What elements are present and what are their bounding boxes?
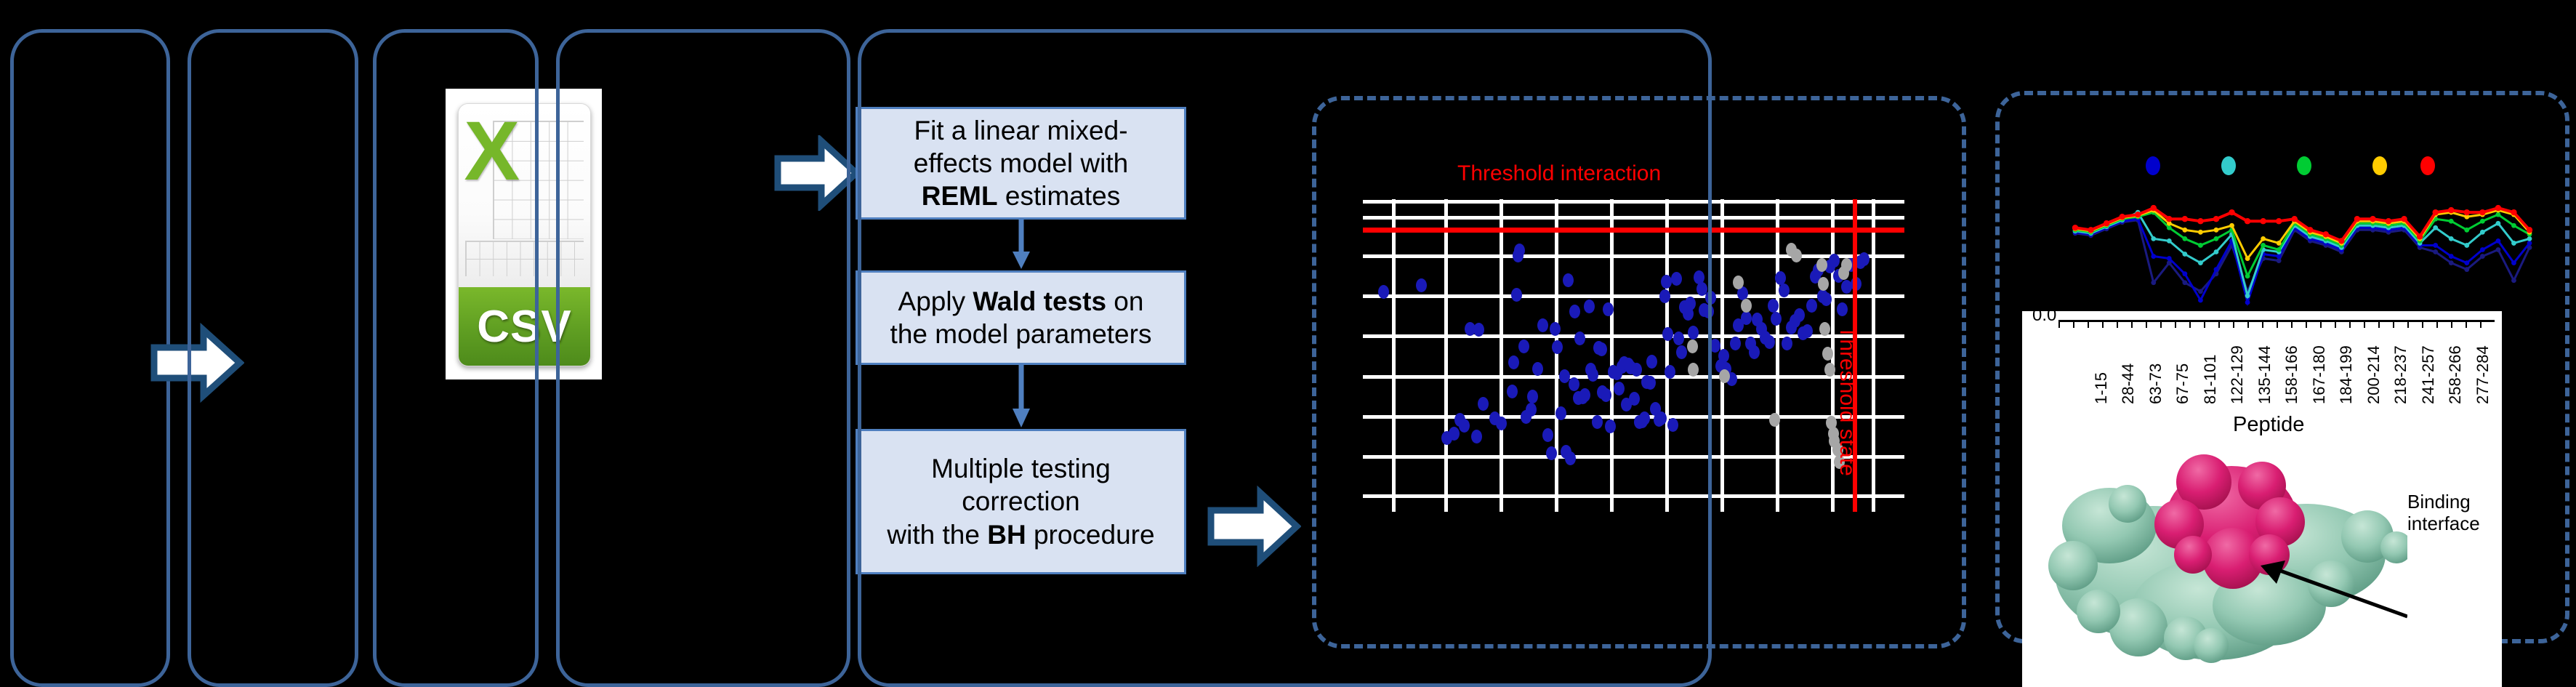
line-point	[2480, 230, 2485, 235]
scatter-point	[1768, 299, 1779, 313]
line-point	[2338, 238, 2344, 244]
x-axis-tick-label: 158-166	[2282, 345, 2301, 404]
scatter-point	[1819, 322, 1830, 336]
scatter-results-panel	[556, 29, 850, 687]
line-point	[2401, 216, 2407, 222]
line-point	[2197, 218, 2203, 224]
protein-surface-render	[2029, 438, 2407, 678]
line-point	[2449, 254, 2454, 259]
x-axis-tick-label: 200-214	[2364, 345, 2383, 404]
line-point	[2370, 216, 2375, 222]
line-point	[2151, 205, 2157, 211]
line-point	[2354, 216, 2360, 222]
scatter-point	[1749, 345, 1760, 359]
line-point	[2464, 267, 2469, 272]
line-point	[2480, 254, 2485, 259]
empty-input-panel	[10, 29, 170, 687]
x-axis-tick-label: 258-266	[2446, 345, 2465, 404]
statistics-panel	[373, 29, 539, 687]
line-point	[2214, 228, 2219, 233]
legend-dot-blue	[2146, 156, 2160, 175]
line-point	[2276, 218, 2282, 224]
line-point	[2527, 227, 2532, 233]
line-point	[2229, 209, 2234, 215]
line-point	[2229, 223, 2234, 228]
line-point	[2245, 294, 2250, 299]
line-point	[2167, 225, 2172, 230]
line-point	[2464, 243, 2469, 248]
binding-interface-line2: interface	[2407, 513, 2480, 534]
line-point	[2166, 216, 2172, 222]
x-axis-tick-label: 218-237	[2391, 345, 2410, 404]
line-point	[2432, 209, 2438, 215]
line-point	[2495, 247, 2500, 252]
scatter-point	[1822, 347, 1833, 361]
line-point	[2495, 238, 2500, 244]
line-point	[2433, 243, 2438, 248]
line-point	[2433, 225, 2438, 230]
line-point	[2198, 289, 2203, 294]
line-point	[2511, 260, 2516, 265]
scatter-point	[1859, 252, 1869, 266]
line-point	[2464, 209, 2470, 215]
line-point	[2511, 223, 2516, 228]
scatter-point	[1824, 363, 1835, 377]
line-point	[2245, 256, 2250, 261]
binding-interface-annotation: Binding interface	[2407, 491, 2524, 535]
line-point	[2182, 236, 2187, 241]
x-axis-tick-label: 241-257	[2419, 345, 2438, 404]
line-point	[2433, 249, 2438, 254]
line-point	[2198, 243, 2203, 248]
x-axis-title: Peptide	[2233, 413, 2304, 437]
line-point	[2182, 271, 2187, 276]
line-point	[2182, 280, 2187, 285]
scatter-point	[1818, 277, 1829, 291]
scatter-point	[1769, 413, 1780, 427]
line-point	[2151, 236, 2156, 241]
scatter-point	[1719, 369, 1730, 383]
line-point	[2511, 241, 2516, 246]
scatter-point	[1718, 349, 1729, 363]
line-point	[2214, 249, 2219, 254]
scatter-point	[1782, 337, 1792, 350]
scatter-point	[1821, 292, 1832, 306]
line-point	[2261, 236, 2266, 241]
line-point	[2386, 218, 2391, 224]
line-point	[2198, 260, 2203, 265]
line-point	[2135, 212, 2141, 217]
line-point	[2479, 209, 2485, 215]
legend-dot-red	[2420, 156, 2435, 175]
line-point	[2151, 280, 2156, 285]
scatter-point	[1730, 337, 1741, 350]
scatter-point	[1764, 335, 1775, 349]
legend-dot-cyan	[2221, 156, 2236, 175]
scatter-point	[1802, 324, 1813, 338]
line-point	[2277, 254, 2282, 259]
line-point	[2277, 258, 2282, 263]
line-point	[2151, 254, 2156, 259]
x-axis-tick-label: 135-144	[2255, 345, 2274, 404]
line-point	[2495, 212, 2500, 217]
line-point	[2261, 243, 2266, 248]
scatter-point	[1741, 311, 1752, 325]
line-point	[2167, 256, 2172, 261]
line-point	[2449, 260, 2454, 265]
legend-dot-yellow	[2372, 156, 2387, 175]
line-point	[2245, 300, 2250, 305]
line-point	[2104, 220, 2109, 226]
peptide-line-chart	[2028, 156, 2551, 313]
peptide-line-chart-svg	[2028, 184, 2551, 313]
line-point	[2214, 236, 2219, 241]
line-point	[2088, 227, 2093, 233]
peptide-axis-and-structure-card: 0.0 1-1528-4463-7367-7581-101122-129135-…	[2022, 311, 2502, 687]
line-point	[2464, 260, 2469, 265]
line-point	[2464, 228, 2469, 233]
scatter-point	[1733, 276, 1744, 289]
scatter-point	[1779, 284, 1790, 297]
x-axis-tick-label: 184-199	[2337, 345, 2356, 404]
x-axis-tick-label: 63-73	[2146, 363, 2165, 404]
line-point	[2182, 216, 2188, 222]
peptide-results-panel	[858, 29, 1712, 687]
line-point	[2449, 219, 2454, 224]
csv-data-panel	[188, 29, 358, 687]
line-point	[2449, 236, 2454, 241]
x-axis-tick-label: 67-75	[2173, 363, 2192, 404]
x-axis-tick-label: 167-180	[2310, 345, 2329, 404]
scatter-point	[1829, 254, 1840, 268]
x-axis-tick-label: 277-284	[2474, 345, 2492, 404]
line-point	[2511, 209, 2516, 215]
line-point	[2448, 207, 2454, 213]
line-point	[2511, 278, 2516, 283]
line-point	[2277, 247, 2282, 252]
line-point	[2245, 273, 2250, 278]
line-point	[2182, 228, 2187, 233]
x-axis-tick-label: 1-15	[2092, 372, 2111, 404]
line-point	[2198, 230, 2203, 235]
line-point	[2527, 236, 2532, 241]
scatter-point	[1794, 308, 1805, 322]
legend-dot-green	[2297, 156, 2311, 175]
line-point	[2198, 298, 2203, 303]
line-point	[2527, 241, 2532, 246]
line-point	[2417, 233, 2423, 239]
line-point	[2214, 267, 2219, 272]
scatter-point	[1806, 299, 1817, 313]
line-point	[2260, 218, 2266, 224]
line-point	[2495, 221, 2500, 226]
line-point	[2182, 252, 2187, 257]
line-point	[2277, 241, 2282, 246]
x-axis-tick-label: 81-101	[2201, 354, 2220, 404]
line-point	[2307, 227, 2313, 233]
line-point	[2323, 231, 2329, 237]
line-point	[2480, 219, 2485, 224]
line-point	[2213, 216, 2219, 222]
threshold-state-label: Threshold state	[1835, 326, 1859, 476]
scatter-point	[1771, 312, 1782, 326]
line-point	[2245, 218, 2250, 224]
scatter-point	[1741, 299, 1752, 313]
x-axis-label-layer: 1-1528-4463-7367-7581-101122-129135-1441…	[2022, 311, 2502, 413]
scatter-point	[1837, 302, 1848, 316]
line-point	[2495, 205, 2501, 211]
x-axis-tick-label: 28-44	[2119, 363, 2138, 404]
line-point	[2480, 247, 2485, 252]
x-axis-tick-label: 122-129	[2228, 345, 2247, 404]
line-point	[2119, 214, 2125, 220]
line-point	[2292, 216, 2298, 222]
line-point	[2072, 225, 2078, 230]
binding-interface-line1: Binding	[2407, 491, 2471, 513]
scatter-point	[1791, 249, 1802, 262]
line-point	[2167, 238, 2172, 244]
